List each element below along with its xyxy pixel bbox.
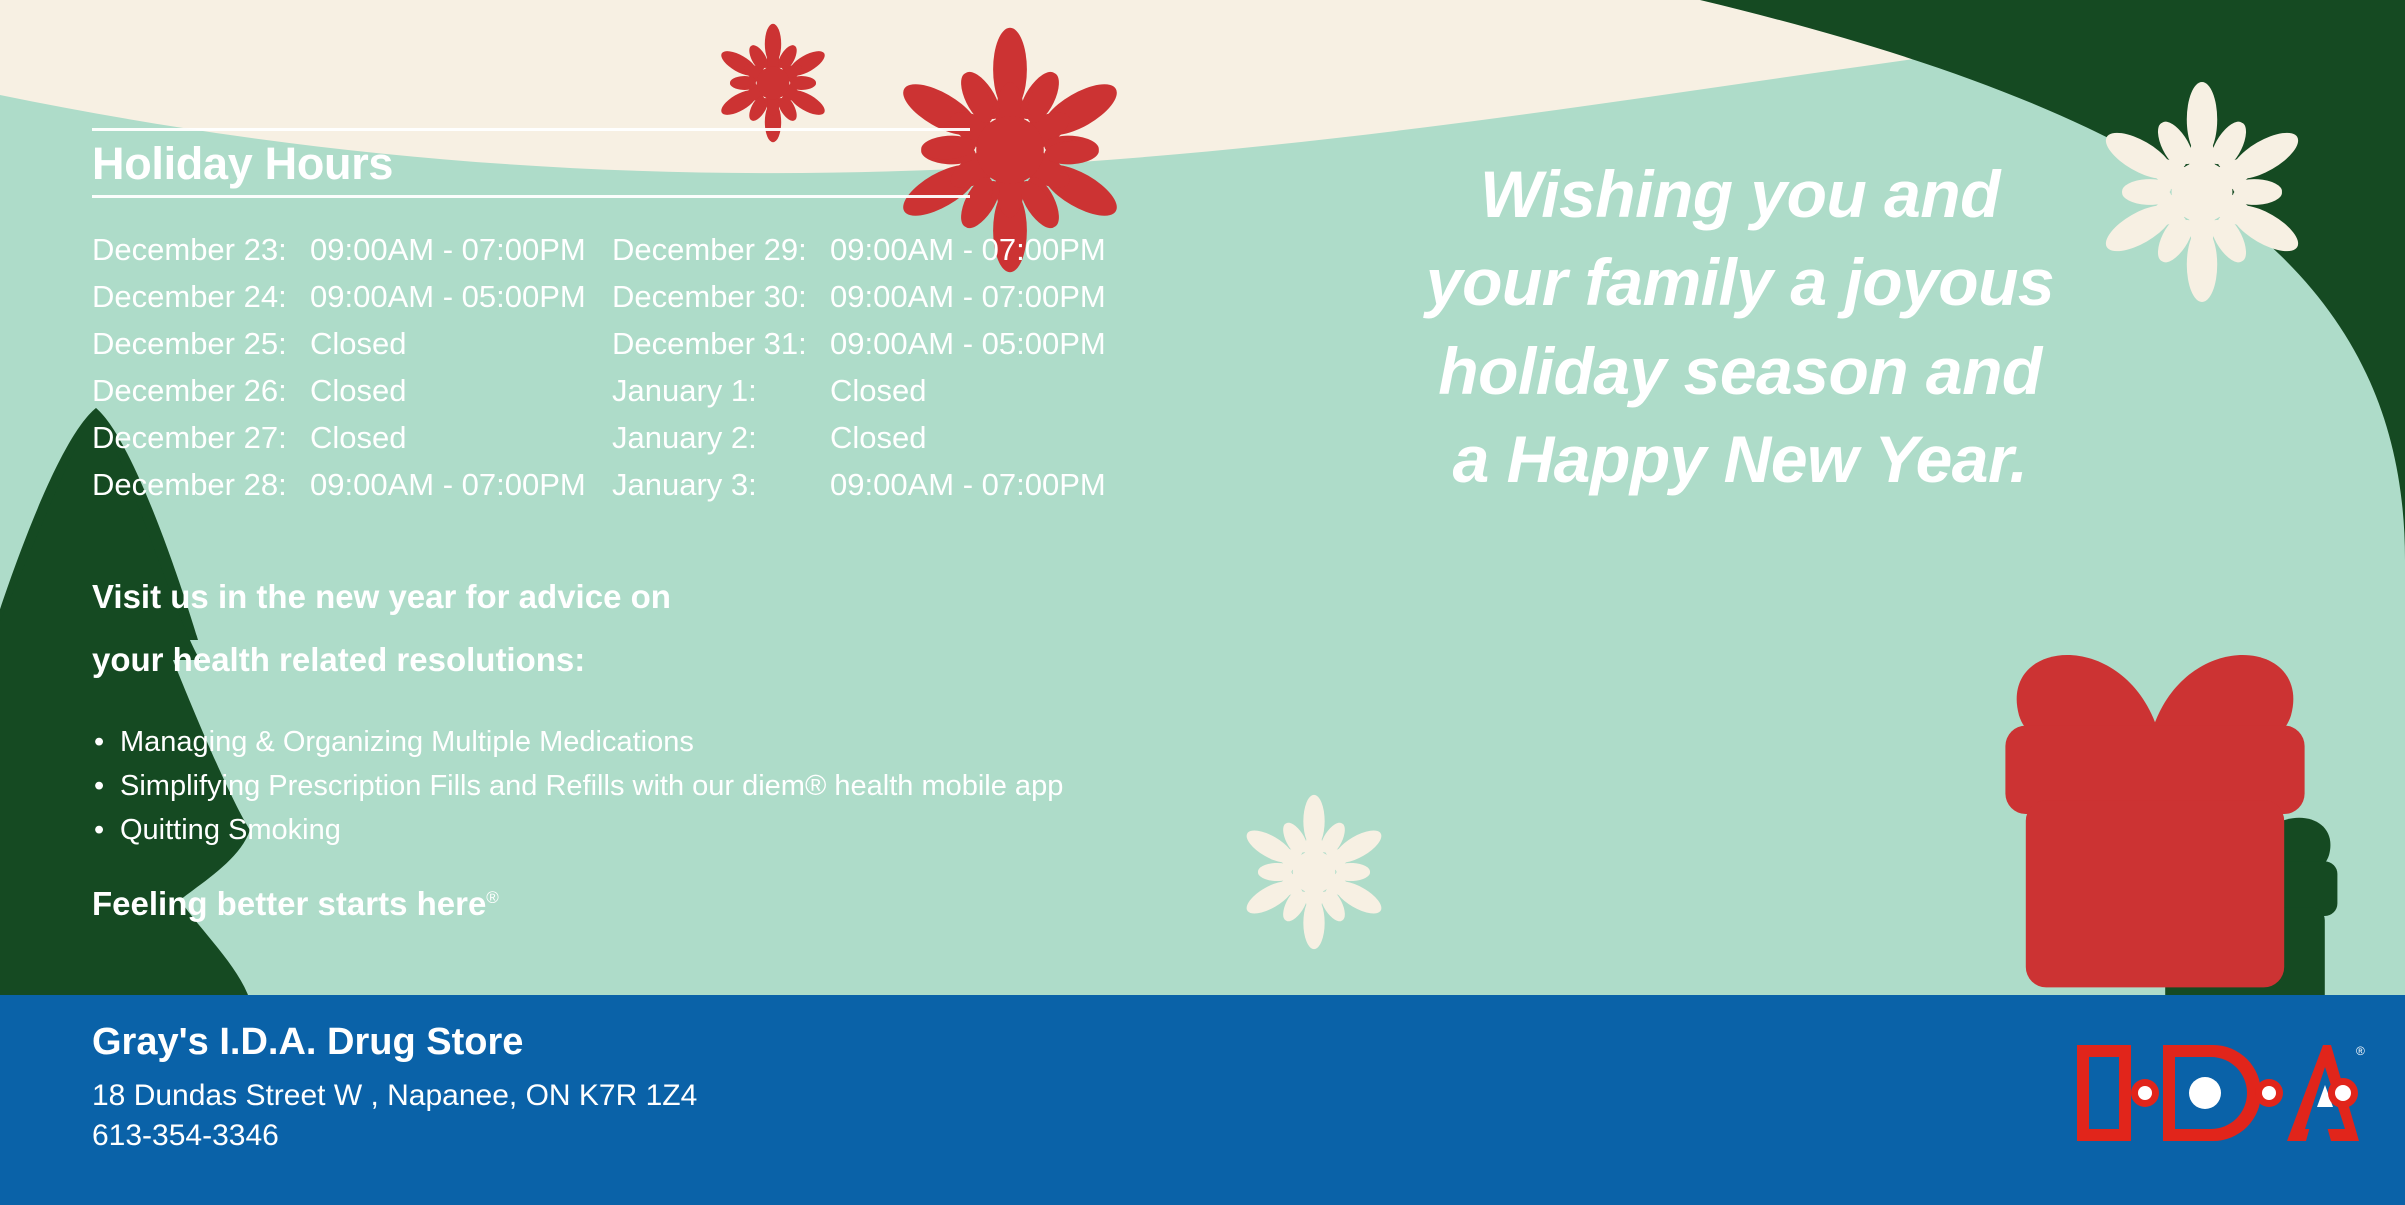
hours-row: December 26: Closed: [92, 373, 612, 420]
store-info: Gray's I.D.A. Drug Store 18 Dundas Stree…: [92, 1021, 697, 1156]
hours-day: December 31:: [612, 326, 830, 362]
store-address: 18 Dundas Street W , Napanee, ON K7R 1Z4: [92, 1076, 697, 1116]
hours-row: December 27: Closed: [92, 420, 612, 467]
hours-time: Closed: [310, 326, 407, 362]
hours-time: 09:00AM - 07:00PM: [310, 232, 586, 268]
holiday-banner: Holiday Hours December 23: 09:00AM - 07:…: [0, 0, 2405, 1205]
greeting-line-3: holiday season and: [1330, 327, 2150, 415]
hours-row: January 3: 09:00AM - 07:00PM: [612, 467, 1132, 514]
hours-day: January 2:: [612, 420, 830, 456]
hours-time: 09:00AM - 05:00PM: [830, 326, 1106, 362]
registered-mark: ®: [486, 888, 499, 907]
hours-day: January 1:: [612, 373, 830, 409]
hours-day: January 3:: [612, 467, 830, 503]
hours-row: December 29: 09:00AM - 07:00PM: [612, 232, 1132, 279]
list-item: • Managing & Organizing Multiple Medicat…: [92, 724, 1192, 761]
hours-row: December 25: Closed: [92, 326, 612, 373]
greeting-line-2: your family a joyous: [1330, 238, 2150, 326]
advice-heading-line2: your health related resolutions:: [92, 636, 1192, 685]
list-item-label: Managing & Organizing Multiple Medicatio…: [120, 726, 694, 758]
hours-row: January 1: Closed: [612, 373, 1132, 420]
list-item: • Quitting Smoking: [92, 812, 1192, 849]
hours-time: 09:00AM - 07:00PM: [310, 467, 586, 503]
logo-registered-mark: ®: [2356, 1044, 2365, 1058]
store-name: Gray's I.D.A. Drug Store: [92, 1021, 697, 1064]
hours-time: Closed: [310, 420, 407, 456]
hours-time: 09:00AM - 07:00PM: [830, 279, 1106, 315]
tagline-text: Feeling better starts here: [92, 885, 486, 922]
hours-row: December 28: 09:00AM - 07:00PM: [92, 467, 612, 514]
bullet-icon: •: [94, 724, 104, 761]
bullet-icon: •: [94, 812, 104, 849]
hours-day: December 30:: [612, 279, 830, 315]
rule-above-title: [92, 128, 970, 131]
holiday-greeting: Wishing you and your family a joyous hol…: [1330, 150, 2150, 504]
rule-below-title: [92, 195, 970, 198]
advice-list: • Managing & Organizing Multiple Medicat…: [92, 724, 1192, 849]
bullet-icon: •: [94, 768, 104, 805]
hours-time: Closed: [830, 373, 927, 409]
hours-day: December 23:: [92, 232, 310, 268]
hours-time: 09:00AM - 07:00PM: [830, 232, 1106, 268]
brand-tagline: Feeling better starts here®: [92, 885, 499, 923]
hours-day: December 26:: [92, 373, 310, 409]
hours-day: December 28:: [92, 467, 310, 503]
advice-heading-line1: Visit us in the new year for advice on: [92, 573, 1192, 622]
hours-row: December 23: 09:00AM - 07:00PM: [92, 232, 612, 279]
advice-section: Visit us in the new year for advice on y…: [92, 573, 1192, 856]
hours-day: December 24:: [92, 279, 310, 315]
greeting-line-1: Wishing you and: [1330, 150, 2150, 238]
hours-row: January 2: Closed: [612, 420, 1132, 467]
ida-logo-svg: ®: [2073, 1033, 2365, 1153]
hours-time: 09:00AM - 07:00PM: [830, 467, 1106, 503]
greeting-line-4: a Happy New Year.: [1330, 415, 2150, 503]
hours-day: December 27:: [92, 420, 310, 456]
ida-logo: ®: [2073, 1033, 2365, 1153]
hours-time: Closed: [830, 420, 927, 456]
hours-time: 09:00AM - 05:00PM: [310, 279, 586, 315]
list-item-label: Simplifying Prescription Fills and Refil…: [120, 770, 1063, 802]
store-phone: 613-354-3346: [92, 1116, 697, 1156]
hours-row: December 24: 09:00AM - 05:00PM: [92, 279, 612, 326]
hours-row: December 30: 09:00AM - 07:00PM: [612, 279, 1132, 326]
hours-day: December 25:: [92, 326, 310, 362]
holiday-hours-section: Holiday Hours December 23: 09:00AM - 07:…: [92, 128, 1152, 514]
footer-bar: Gray's I.D.A. Drug Store 18 Dundas Stree…: [0, 995, 2405, 1205]
hours-grid: December 23: 09:00AM - 07:00PM December …: [92, 232, 1152, 514]
hours-day: December 29:: [612, 232, 830, 268]
hours-time: Closed: [310, 373, 407, 409]
list-item: • Simplifying Prescription Fills and Ref…: [92, 768, 1192, 805]
holiday-hours-title: Holiday Hours: [92, 131, 1152, 195]
list-item-label: Quitting Smoking: [120, 814, 341, 846]
hours-row: December 31: 09:00AM - 05:00PM: [612, 326, 1132, 373]
